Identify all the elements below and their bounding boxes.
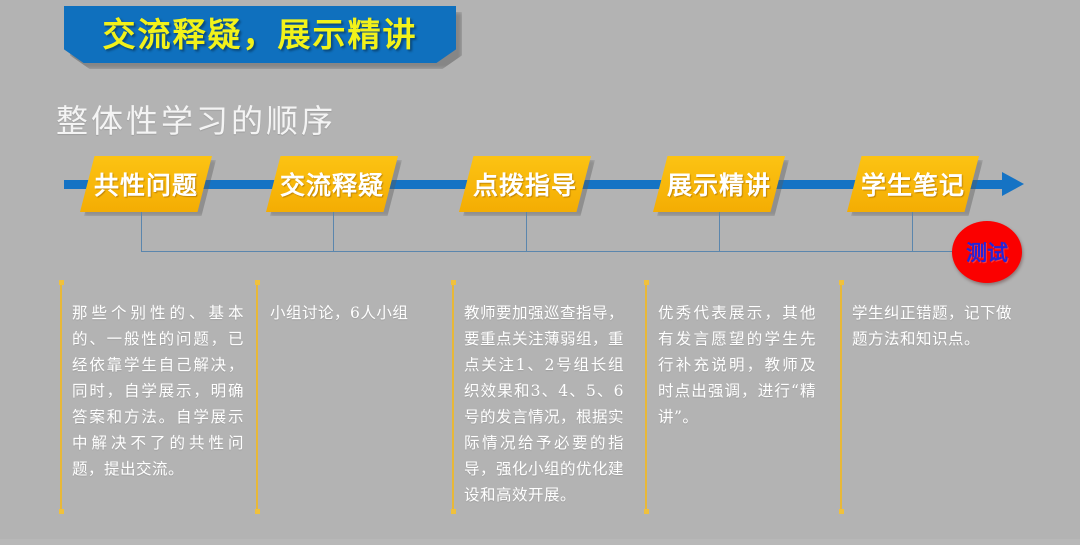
title-banner: 交流释疑，展示精讲 bbox=[64, 6, 456, 63]
column-divider-2 bbox=[256, 282, 258, 512]
connector-vertical-4 bbox=[719, 212, 720, 251]
detail-column-2: 小组讨论，6人小组 bbox=[270, 300, 442, 326]
detail-column-1: 那些个别性的、基本的、一般性的问题，已经依靠学生自己解决，同时，自学展示，明确答… bbox=[72, 300, 244, 482]
slide-canvas: 交流释疑，展示精讲 整体性学习的顺序 共性问题 交流释疑 点拨指导 展示精讲 学… bbox=[0, 0, 1080, 545]
stage-tag-2[interactable]: 交流释疑 bbox=[266, 156, 398, 212]
stage-tag-label-2: 交流释疑 bbox=[280, 166, 384, 202]
detail-column-4: 优秀代表展示，其他有发言愿望的学生先行补充说明，教师及时点出强调，进行“精讲”。 bbox=[658, 300, 816, 430]
slide-title: 交流释疑，展示精讲 bbox=[103, 18, 418, 51]
flow-arrow-head bbox=[1002, 172, 1024, 196]
connector-vertical-3 bbox=[526, 212, 527, 251]
slide-subtitle: 整体性学习的顺序 bbox=[56, 96, 336, 142]
stage-tag-1[interactable]: 共性问题 bbox=[80, 156, 212, 212]
stage-tag-label-4: 展示精讲 bbox=[667, 166, 771, 202]
column-divider-3 bbox=[452, 282, 454, 512]
test-endpoint-label: 测试 bbox=[966, 237, 1008, 267]
stage-tag-label-5: 学生笔记 bbox=[861, 166, 965, 202]
detail-column-3: 教师要加强巡查指导，要重点关注薄弱组，重点关注1、2号组长组织效果和3、4、5、… bbox=[464, 300, 624, 508]
connector-rail bbox=[141, 251, 971, 252]
test-endpoint-circle[interactable]: 测试 bbox=[952, 221, 1022, 283]
stage-tag-5[interactable]: 学生笔记 bbox=[847, 156, 979, 212]
stage-tag-label-1: 共性问题 bbox=[94, 166, 198, 202]
connector-vertical-5 bbox=[912, 212, 913, 251]
connector-vertical-2 bbox=[333, 212, 334, 251]
stage-tag-3[interactable]: 点拨指导 bbox=[459, 156, 591, 212]
stage-tag-4[interactable]: 展示精讲 bbox=[653, 156, 785, 212]
column-divider-5 bbox=[840, 282, 842, 512]
bottom-edge-band bbox=[0, 539, 1080, 545]
connector-vertical-1 bbox=[141, 212, 142, 251]
column-divider-4 bbox=[645, 282, 647, 512]
column-divider-1 bbox=[60, 282, 62, 512]
detail-column-5: 学生纠正错题，记下做题方法和知识点。 bbox=[852, 300, 1012, 352]
stage-tag-label-3: 点拨指导 bbox=[473, 166, 577, 202]
